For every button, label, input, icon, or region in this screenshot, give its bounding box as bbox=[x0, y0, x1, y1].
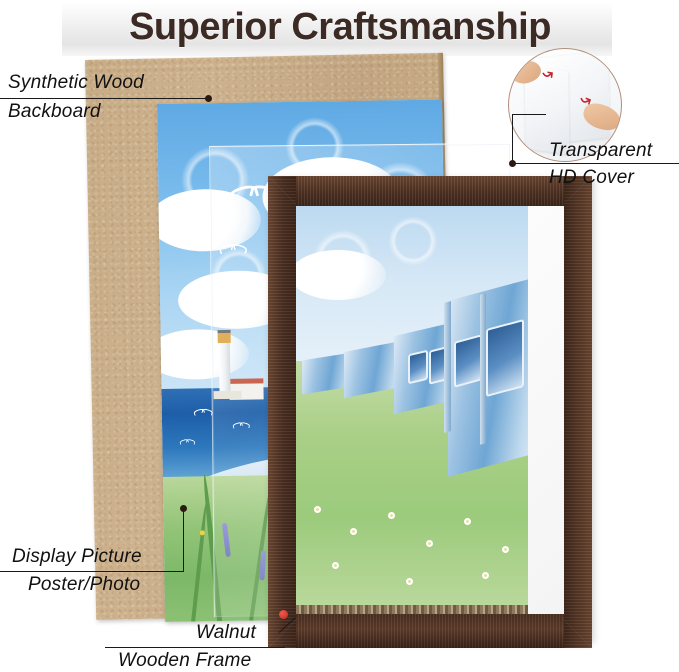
callout-endpoint-dot bbox=[180, 505, 187, 512]
daisy bbox=[332, 562, 339, 569]
callout-vertical-leg bbox=[183, 508, 184, 572]
train-window bbox=[408, 350, 428, 385]
cloud-swirl bbox=[382, 210, 444, 272]
callout-rule bbox=[512, 163, 679, 164]
infographic-stage: Superior Craftsmanship bbox=[0, 0, 679, 672]
lighthouse-lantern bbox=[218, 330, 231, 343]
callout-label-line2: Poster/Photo bbox=[28, 574, 140, 596]
lighthouse-tower bbox=[219, 339, 231, 393]
callout-rule bbox=[0, 571, 183, 572]
callout-label-line1: Synthetic Wood bbox=[8, 72, 144, 94]
daisy bbox=[426, 540, 433, 547]
daisy bbox=[464, 518, 471, 525]
callout-label-line1: Walnut bbox=[196, 622, 256, 644]
daisy bbox=[502, 546, 509, 553]
callout-endpoint-dot bbox=[509, 160, 516, 167]
callout-endpoint-dot bbox=[279, 610, 288, 619]
train-window bbox=[486, 319, 524, 397]
train-door-post bbox=[480, 293, 486, 445]
callout-vertical-leg bbox=[512, 114, 513, 164]
callout-rule-stub bbox=[512, 114, 546, 115]
page-title: Superior Craftsmanship bbox=[62, 1, 618, 53]
yellow-flower bbox=[200, 530, 205, 535]
train-door-post bbox=[444, 301, 451, 433]
lighthouse-base bbox=[214, 391, 242, 399]
daisy bbox=[350, 528, 357, 535]
callout-rule bbox=[0, 98, 208, 99]
daisy bbox=[314, 506, 321, 513]
daisy bbox=[482, 572, 489, 579]
callout-label-line2: Backboard bbox=[8, 101, 101, 123]
callout-endpoint-dot bbox=[205, 95, 212, 102]
daisy bbox=[406, 578, 413, 585]
callout-label-line2: Wooden Frame bbox=[118, 650, 251, 672]
daisy bbox=[388, 512, 395, 519]
train-window bbox=[454, 334, 482, 388]
callout-rule bbox=[105, 647, 285, 648]
callout-label-line2: HD Cover bbox=[549, 167, 634, 189]
callout-label-line1: Display Picture bbox=[12, 546, 142, 568]
callout-label-line1: Transparent bbox=[549, 140, 652, 162]
track-gravel bbox=[296, 605, 528, 614]
framed-train-artwork bbox=[296, 206, 528, 614]
